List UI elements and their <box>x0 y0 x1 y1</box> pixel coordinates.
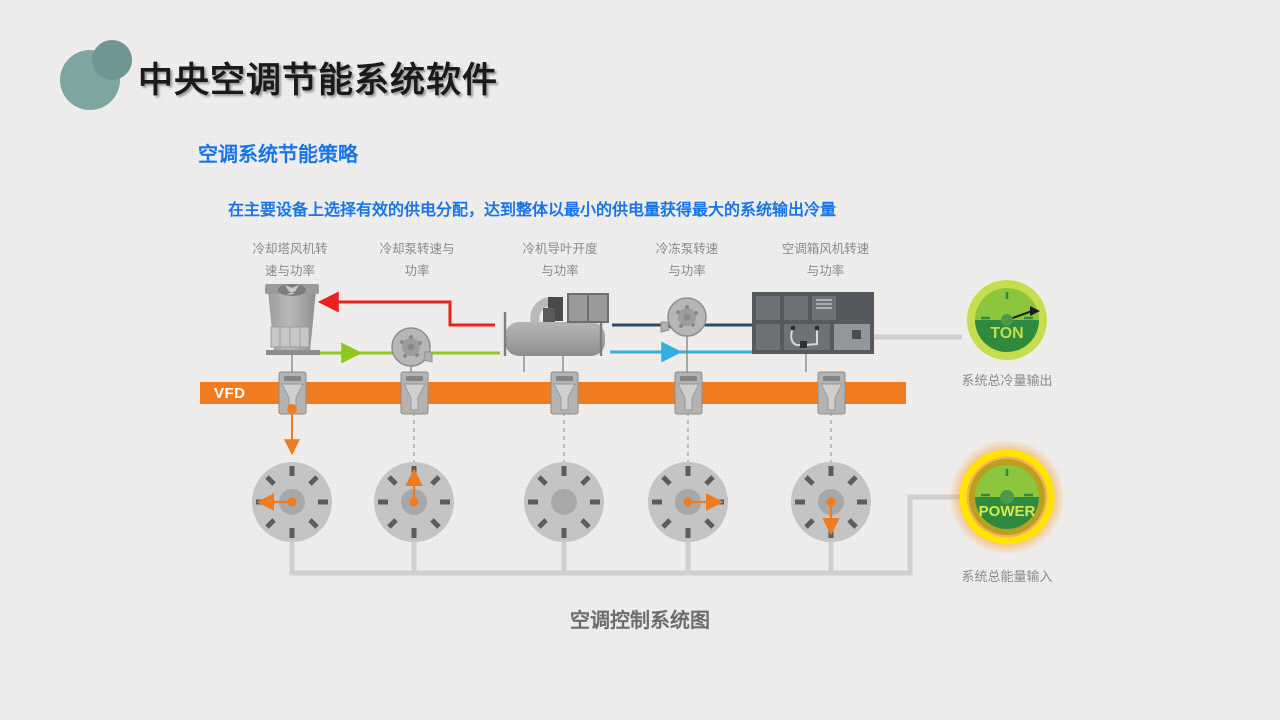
motor-gauge-cooling-pump[interactable] <box>374 462 454 542</box>
cooling-tower-icon <box>265 284 320 372</box>
vfd-drive-4[interactable] <box>675 372 702 414</box>
slide-canvas: 中央空调节能系统软件 空调系统节能策略 在主要设备上选择有效的供电分配，达到整体… <box>0 0 1280 720</box>
pipe-condenser-return <box>322 302 495 325</box>
motor-gauge-chilled-pump[interactable] <box>648 462 728 542</box>
motor-gauge-ahu-fan[interactable] <box>791 462 871 542</box>
power-gauge-badge[interactable]: POWER <box>949 439 1065 555</box>
ton-badge-label: TON <box>990 325 1023 342</box>
ton-badge-caption: 系统总冷量输出 <box>917 370 1097 389</box>
chilled-water-pump-icon <box>661 298 706 382</box>
power-badge-label: POWER <box>979 503 1036 520</box>
chiller-icon <box>505 294 608 372</box>
motor-gauge-chiller[interactable] <box>524 462 604 542</box>
vfd-drive-2[interactable] <box>401 372 428 414</box>
vfd-drive-5[interactable] <box>818 372 845 414</box>
power-badge-caption: 系统总能量输入 <box>917 566 1097 585</box>
vfd-bar-label: VFD <box>214 385 246 402</box>
vfd-signal-line-1 <box>287 404 297 452</box>
motor-gauge-cooling-tower-fan[interactable] <box>252 462 332 542</box>
ton-gauge-badge[interactable]: TON <box>967 280 1047 360</box>
vfd-drive-3[interactable] <box>551 372 578 414</box>
diagram-caption: 空调控制系统图 <box>440 604 840 633</box>
air-handling-unit-icon <box>752 292 874 372</box>
